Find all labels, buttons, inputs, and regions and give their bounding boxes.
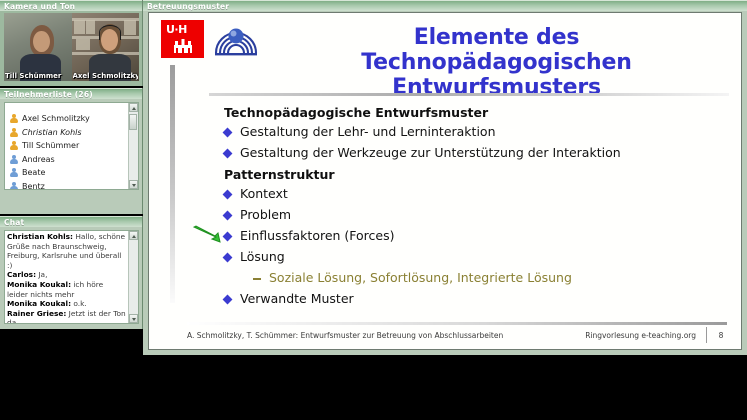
chat-message: Rainer Griese: Jetzt ist der Ton da [7,309,126,323]
bullet-item: Kontext [224,187,731,201]
participant-name: Beate [22,168,45,177]
bullet-text: Einflussfaktoren (Forces) [240,229,395,243]
bullet-item-highlighted: Einflussfaktoren (Forces) [224,229,731,243]
diamond-bullet-icon [223,149,233,159]
chat-message: Carlos: Ja, [7,270,126,280]
slide-page-number: 8 [715,331,727,340]
slide-left-accent-bar [170,65,175,303]
slide-canvas[interactable]: U·H [148,12,742,350]
scroll-up-icon[interactable] [129,231,138,240]
sub-bullet-item: Soziale Lösung, Sofortlösung, Integriert… [253,271,731,285]
video-label-right: Axel Schmolitzky [73,72,139,80]
section-heading: Technopädagogische Entwurfsmuster [224,105,731,120]
bullet-item: Lösung [224,250,731,264]
list-item[interactable]: Axel Schmolitzky [5,112,128,126]
sub-bullet-text: Soziale Lösung, Sofortlösung, Integriert… [269,271,572,285]
scroll-track[interactable] [129,240,138,314]
bullet-item: Gestaltung der Lehr- und Lerninteraktion [224,125,731,139]
chat-message: Monika Koukal: ich höre leider nichts me… [7,280,126,299]
video-tile-left[interactable]: Till Schümmer [4,13,72,81]
background-box [124,20,136,35]
diamond-bullet-icon [223,253,233,263]
diamond-bullet-icon [223,295,233,305]
bullet-text: Lösung [240,250,285,264]
fernuni-hagen-logo [213,19,259,61]
bullet-text: Problem [240,208,291,222]
footer-divider [187,322,727,325]
participants-window-title: Teilnehmerliste (26) [0,88,142,99]
slide-body: Technopädagogische Entwurfsmuster Gestal… [211,99,731,313]
section-heading: Patternstruktur [224,167,731,182]
diamond-bullet-icon [223,190,233,200]
diamond-bullet-icon [223,232,233,242]
bullet-text: Gestaltung der Werkzeuge zur Unterstützu… [240,146,621,160]
chat-text: o.k. [71,299,87,308]
chat-author: Carlos: [7,270,36,279]
chat-author: Monika Koukal: [7,299,71,308]
scroll-down-icon[interactable] [129,314,138,323]
uhh-logo-text: U·H [166,23,187,36]
conference-screen: Kamera und Ton Till Schümmer A [0,0,747,420]
chat-pane: Christian Kohls: Hallo, schöne Grüße nac… [4,230,139,324]
list-item[interactable]: Christian Kohls [5,126,128,140]
participants-scrollbar[interactable] [128,103,138,189]
slide-title: Elemente des Technopädagogischen Entwurf… [269,25,724,100]
bullet-item: Verwandte Muster [224,292,731,306]
chat-window: Chat Christian Kohls: Hallo, schöne Grüß… [0,216,143,329]
green-arrow-pointer-icon [193,225,223,243]
footer-left-text: A. Schmolitzky, T. Schümmer: Entwurfsmus… [187,331,585,340]
presentation-window-title: Betreuungsmuster [143,0,747,11]
video-label-left: Till Schümmer [5,72,71,80]
bullet-text: Kontext [240,187,288,201]
user-moderator-icon [9,114,18,123]
user-icon [9,182,18,189]
chat-author: Christian Kohls: [7,232,73,241]
hamburg-castle-icon [174,39,192,53]
scroll-thumb[interactable] [129,114,137,130]
chat-message: Monika Koukal: o.k. [7,299,126,309]
chat-window-title: Chat [0,216,142,227]
video-tile-right[interactable]: Axel Schmolitzky [72,13,140,81]
dash-bullet-icon [253,278,261,280]
list-item[interactable]: Till Schümmer [5,139,128,153]
title-divider [209,93,729,96]
background-box [74,20,85,34]
slide-footer: A. Schmolitzky, T. Schümmer: Entwurfsmus… [187,326,727,344]
bullet-item: Problem [224,208,731,222]
chat-text: Ja, [36,270,47,279]
footer-right-text: Ringvorlesung e-teaching.org [585,331,696,340]
chat-message: Christian Kohls: Hallo, schöne Grüße nac… [7,232,126,270]
participant-name: Till Schümmer [22,141,79,150]
chat-message-log[interactable]: Christian Kohls: Hallo, schöne Grüße nac… [5,231,128,323]
headset-icon [99,25,122,40]
chat-author: Rainer Griese: [7,309,66,318]
user-moderator-icon [9,141,18,150]
list-item[interactable]: Andreas [5,153,128,167]
camera-window-title: Kamera und Ton [0,0,142,11]
bullet-item: Gestaltung der Werkzeuge zur Unterstützu… [224,146,731,160]
user-icon [9,155,18,164]
camera-window: Kamera und Ton Till Schümmer A [0,0,143,86]
slide-title-line-1: Elemente des [269,25,724,50]
background-box [76,39,91,51]
background-box [86,20,95,34]
scroll-track[interactable] [129,112,138,180]
video-grid: Till Schümmer Axel Schmolitzky [4,13,139,81]
user-moderator-icon [9,128,18,137]
footer-separator [706,327,707,343]
bullet-text: Verwandte Muster [240,292,354,306]
participants-window: Teilnehmerliste (26) Axel Schmolitzky Ch… [0,88,143,214]
user-icon [9,168,18,177]
uhh-logo: U·H [161,20,204,58]
participant-name: Axel Schmolitzky [22,114,90,123]
bullet-text: Gestaltung der Lehr- und Lerninteraktion [240,125,496,139]
chat-scrollbar[interactable] [128,231,138,323]
list-item[interactable]: Beate [5,166,128,180]
participant-name: Andreas [22,155,55,164]
scroll-up-icon[interactable] [129,103,138,112]
participants-pane: Axel Schmolitzky Christian Kohls Till Sc… [4,102,139,190]
list-item[interactable]: Bentz [5,180,128,190]
participant-name: Bentz [22,182,45,189]
participants-list[interactable]: Axel Schmolitzky Christian Kohls Till Sc… [5,103,128,189]
presentation-window: Betreuungsmuster U·H [143,0,747,355]
scroll-down-icon[interactable] [129,180,138,189]
video-person-face [33,31,50,53]
diamond-bullet-icon [223,211,233,221]
diamond-bullet-icon [223,128,233,138]
chat-author: Monika Koukal: [7,280,71,289]
participant-name: Christian Kohls [22,128,82,137]
